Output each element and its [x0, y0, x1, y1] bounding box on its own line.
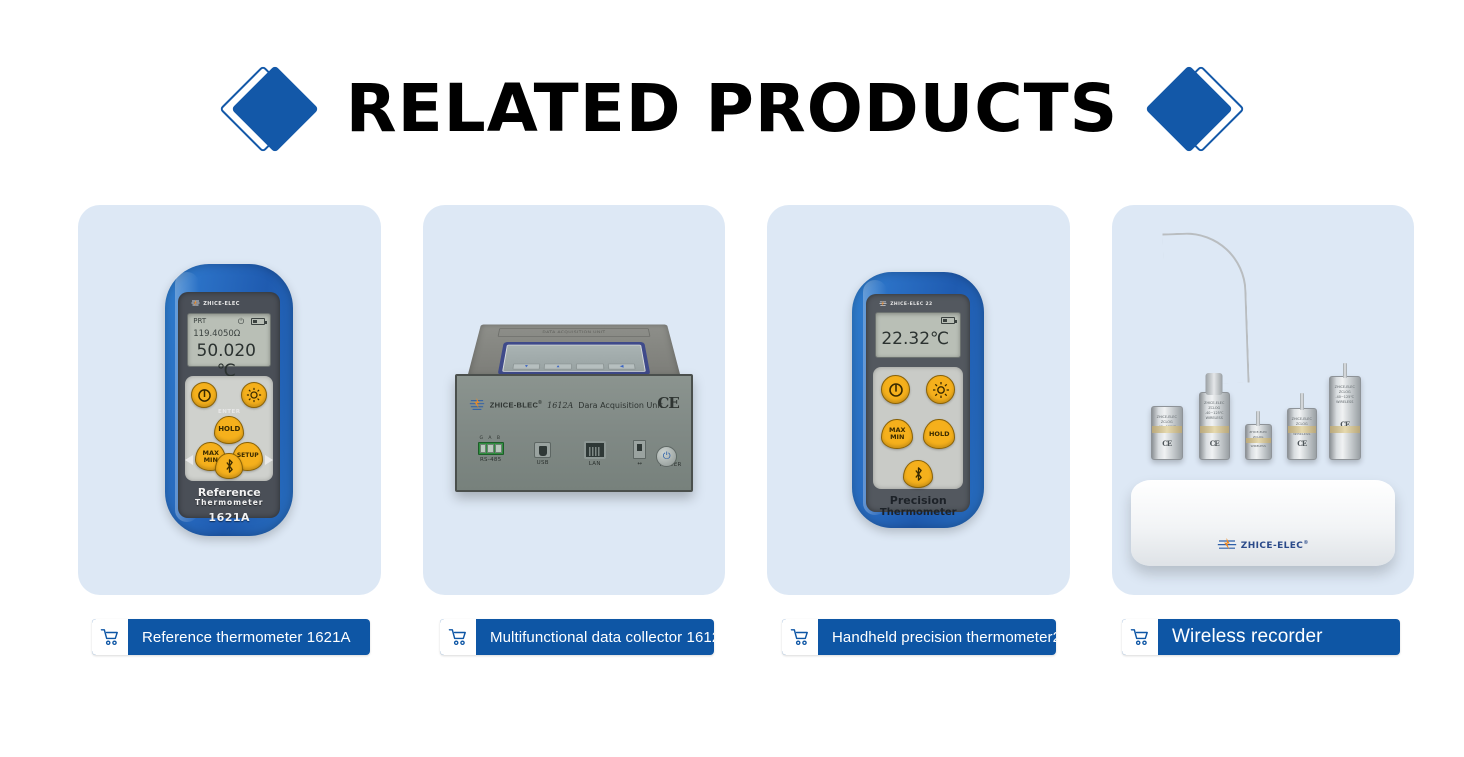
lan-port[interactable]: LAN	[579, 441, 611, 467]
device-image-precision-thermometer: ZHICE-ELEC 22 22.32℃ MAXMIN HOLD	[852, 272, 984, 528]
top-strip-label: DATA ACQUISITION UNIT	[497, 328, 650, 337]
backlight-button[interactable]	[926, 375, 955, 404]
device-footer-line2: Thermometer	[873, 507, 963, 518]
usb-caption: USB	[527, 460, 559, 466]
page-title: RELATED PRODUCTS	[346, 76, 1118, 142]
product-card-wireless-recorder[interactable]: ZHICE-ELEC ZCLOG -40~125℃ WIRELESS CE ZH…	[1112, 205, 1415, 595]
buy-button-wireless-recorder[interactable]: Wireless recorder	[1122, 619, 1400, 655]
device-brand-label: ZHICE-ELEC 22	[879, 301, 932, 308]
bluetooth-button[interactable]	[215, 453, 243, 479]
product-label: Handheld precision thermometer222	[818, 629, 1056, 646]
ce-mark-icon: CE	[1288, 439, 1316, 448]
device-keypad: ENTER HOLD MAXMIN SETUP	[185, 376, 273, 481]
logger-unit: ZHICE-ELEC ZCLOG -40~125℃ WIRELESS CE	[1287, 408, 1317, 460]
device-image-wireless-recorder: ZHICE-ELEC ZCLOG -40~125℃ WIRELESS CE ZH…	[1123, 220, 1403, 580]
logger-stem	[1256, 411, 1260, 426]
rs485-caption: RS-485	[471, 457, 511, 463]
device-top-panel: DATA ACQUISITION UNIT ▼ ▲ ◀	[467, 325, 681, 378]
logger-unit: ZHICE-ELEC ZCLOG -40~125℃ WIRELESS CE	[1199, 392, 1230, 460]
buy-button-data-collector[interactable]: Multifunctional data collector 1612A	[440, 619, 714, 655]
device-image-reference-thermometer: ZHICE-ELEC PRT 119.4050Ω ⏻ 50.020 ℃	[165, 264, 293, 536]
device-front-panel: ZHICE-BLEC® 1612A Dara Acquisition Unit …	[455, 374, 693, 492]
shopping-cart-icon	[440, 619, 476, 655]
shopping-cart-icon	[1122, 619, 1158, 655]
zhice-logo-icon	[469, 398, 485, 412]
device-footer-line1: Precision	[873, 494, 963, 507]
device-footer-model: 1621A	[165, 511, 293, 524]
logger-cap	[1206, 373, 1223, 395]
zhice-logo-icon	[1217, 538, 1237, 552]
battery-icon	[251, 318, 265, 325]
logger-label: ZHICE-ELEC ZCLOG -40~125℃ WIRELESS	[1203, 401, 1226, 421]
logger-stem	[1300, 393, 1304, 410]
logger-band	[1330, 426, 1360, 433]
probe-cable	[1162, 231, 1249, 386]
dock-brand-text: ZHICE-ELEC	[1241, 541, 1304, 551]
shopping-cart-icon	[782, 619, 818, 655]
power-icon: ⏻	[238, 317, 244, 327]
usb-a-caption: ↔	[627, 461, 653, 467]
buy-button-precision-thermometer[interactable]: Handheld precision thermometer222	[782, 619, 1056, 655]
ce-mark-icon: CE	[1200, 439, 1229, 448]
diamond-icon-left	[222, 62, 316, 156]
product-card-precision-thermometer[interactable]: ZHICE-ELEC 22 22.32℃ MAXMIN HOLD	[767, 205, 1070, 595]
power-button[interactable]	[191, 382, 217, 408]
lan-caption: LAN	[579, 461, 611, 467]
battery-icon	[941, 317, 955, 324]
softkey-left[interactable]: ◀	[607, 364, 636, 370]
device-brand-label: ZHICE-ELEC	[191, 300, 240, 308]
ce-mark-icon: CE	[1152, 439, 1182, 448]
related-products-page: RELATED PRODUCTS ZHICE-ELEC PRT	[0, 0, 1464, 757]
logger-unit: ZHICE-ELEC ZCLOG -40~125℃ WIRELESS	[1245, 424, 1272, 460]
hold-button[interactable]: HOLD	[214, 416, 244, 444]
product-card-list: ZHICE-ELEC PRT 119.4050Ω ⏻ 50.020 ℃	[78, 205, 1414, 595]
logger-band	[1152, 426, 1182, 433]
softkey-up[interactable]: ▲	[544, 364, 572, 370]
logger-band	[1246, 438, 1271, 443]
product-card-data-collector[interactable]: DATA ACQUISITION UNIT ▼ ▲ ◀	[423, 205, 726, 595]
lcd-temperature-value: 22.32℃	[876, 329, 954, 349]
front-panel-branding: ZHICE-BLEC® 1612A Dara Acquisition Unit	[469, 398, 681, 412]
device-keypad: MAXMIN HOLD Precision Thermometer	[873, 367, 963, 489]
logger-unit: ZHICE-ELEC ZCLOG -40~125℃ WIRELESS CE	[1151, 406, 1183, 460]
zhice-logo-icon	[191, 300, 200, 308]
logger-band	[1288, 426, 1316, 433]
bluetooth-button[interactable]	[903, 460, 933, 488]
usb-b-port[interactable]: USB	[527, 442, 559, 466]
device-model: 1612A	[547, 401, 573, 410]
softkey-blank[interactable]	[576, 364, 604, 370]
device-screen: ▼ ▲ ◀	[502, 345, 646, 372]
device-lcd-display: PRT 119.4050Ω ⏻ 50.020 ℃	[187, 313, 271, 367]
lcd-sensor-type: PRT	[193, 317, 206, 325]
power-button[interactable]	[881, 375, 910, 404]
lcd-temperature-value: 50.020 ℃	[188, 341, 264, 381]
device-lcd-display: 22.32℃	[875, 312, 961, 358]
dock-brand-label: ZHICE-ELEC®	[1131, 538, 1395, 552]
product-card-reference-thermometer[interactable]: ZHICE-ELEC PRT 119.4050Ω ⏻ 50.020 ℃	[78, 205, 381, 595]
usb-b-icon	[534, 442, 551, 458]
brand-text: ZHICE-ELEC	[203, 301, 240, 307]
dock-body: ZHICE-ELEC®	[1131, 480, 1395, 566]
shopping-cart-icon	[92, 619, 128, 655]
ce-mark-icon: CE	[657, 394, 678, 412]
device-port-panel: G A B RS-485 USB LAN	[471, 434, 677, 482]
left-arrow-icon	[185, 455, 193, 465]
product-label: Wireless recorder	[1158, 626, 1339, 648]
logger-stem	[1343, 363, 1347, 378]
logger-band	[1200, 426, 1229, 433]
logger-unit: ZHICE-ELEC ZCLOG -40~125℃ WIRELESS CE	[1329, 376, 1361, 460]
product-label: Multifunctional data collector 1612A	[476, 629, 714, 646]
rs485-pin-labels: G A B	[471, 436, 511, 441]
device-image-data-acquisition-unit: DATA ACQUISITION UNIT ▼ ▲ ◀	[449, 300, 699, 500]
logger-label: ZHICE-ELEC ZCLOG -40~125℃ WIRELESS	[1333, 385, 1357, 405]
product-label: Reference thermometer 1621A	[128, 629, 367, 646]
power-icon: ⏻	[656, 446, 677, 467]
softkey-down[interactable]: ▼	[512, 364, 541, 370]
diamond-icon-right	[1148, 62, 1242, 156]
backlight-button[interactable]	[241, 382, 267, 408]
right-arrow-icon	[265, 455, 273, 465]
lan-icon	[584, 441, 606, 459]
brand-text: ZHICE-ELEC 22	[890, 302, 932, 307]
hold-button[interactable]: HOLD	[923, 419, 955, 449]
enter-caption: ENTER	[185, 409, 273, 415]
buy-button-reference-thermometer[interactable]: Reference thermometer 1621A	[92, 619, 370, 655]
device-name: Dara Acquisition Unit	[578, 401, 662, 410]
zhice-logo-icon	[879, 301, 887, 308]
product-label-list: Reference thermometer 1621A Multifunctio…	[0, 619, 1464, 655]
usb-a-icon	[633, 440, 646, 459]
rs485-port[interactable]: G A B RS-485	[471, 436, 511, 463]
screen-softkeys[interactable]: ▼ ▲ ◀	[512, 364, 636, 370]
terminal-block-icon	[478, 442, 504, 455]
lcd-resistance-value: 119.4050Ω	[193, 329, 240, 339]
docking-station: ZC-LOG IT-10 ZHICE-ELEC®	[1131, 462, 1395, 580]
usb-a-port[interactable]: ↔	[627, 440, 653, 467]
max-min-button[interactable]: MAXMIN	[881, 419, 913, 449]
power-button[interactable]: ⏻	[653, 446, 681, 467]
page-header: RELATED PRODUCTS	[0, 62, 1464, 156]
brand-wordmark: ZHICE-BLEC®	[490, 400, 542, 410]
screen-bezel: ▼ ▲ ◀	[497, 342, 650, 375]
device-footer-line2: Thermometer	[165, 498, 293, 507]
